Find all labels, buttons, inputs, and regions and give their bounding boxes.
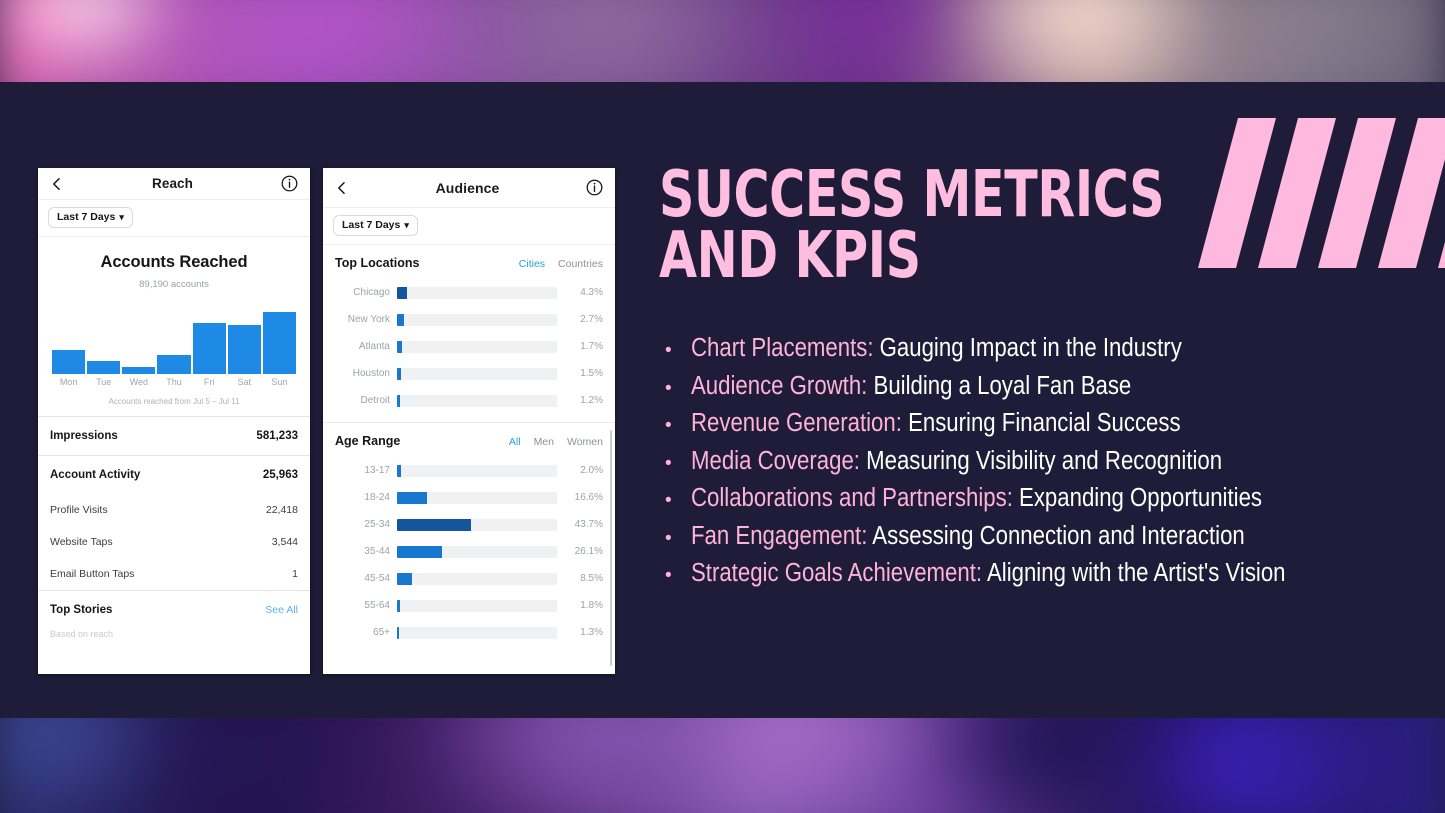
axis-label-mon: Mon bbox=[52, 377, 85, 387]
age-percent: 43.7% bbox=[557, 519, 603, 530]
top-stories-subtitle: Based on reach bbox=[38, 629, 310, 639]
audience-screenshot-card: Audience Last 7 Days ▾ Top Locations Cit… bbox=[323, 168, 615, 674]
age-range-header: Age Range All Men Women bbox=[323, 423, 615, 457]
section-title: Age Range bbox=[335, 434, 400, 448]
top-gradient-banner bbox=[0, 0, 1445, 82]
list-item: Atlanta 1.7% bbox=[323, 333, 615, 360]
bar-fill bbox=[397, 314, 404, 326]
list-item: • Fan Engagement: Assessing Connection a… bbox=[665, 521, 1405, 551]
page-title: Reach bbox=[152, 176, 193, 191]
bullet-lead: Audience Growth: bbox=[691, 372, 867, 400]
bullet-rest: Gauging Impact in the Industry bbox=[873, 334, 1181, 362]
bar-mon bbox=[52, 350, 85, 374]
list-item: 35-44 26.1% bbox=[323, 538, 615, 565]
bar-chart-bars bbox=[50, 312, 298, 374]
age-label: 45-54 bbox=[335, 573, 397, 584]
bullet-lead: Collaborations and Partnerships: bbox=[691, 484, 1013, 512]
bullet-marker-icon: • bbox=[665, 341, 691, 360]
bar-track bbox=[397, 492, 557, 504]
bar-track bbox=[397, 314, 557, 326]
chevron-down-icon: ▾ bbox=[404, 221, 409, 230]
bar-track bbox=[397, 341, 557, 353]
top-stories-header: Top Stories See All bbox=[38, 590, 310, 629]
bar-fill bbox=[397, 627, 399, 639]
top-gradient-fill bbox=[0, 0, 1445, 82]
table-row[interactable]: Impressions 581,233 bbox=[38, 416, 310, 455]
info-circle-icon[interactable] bbox=[281, 175, 298, 192]
age-label: 55-64 bbox=[335, 600, 397, 611]
bullet-text: Fan Engagement: Assessing Connection and… bbox=[691, 521, 1245, 551]
bullet-lead: Chart Placements: bbox=[691, 334, 873, 362]
bar-fill bbox=[397, 287, 407, 299]
bullet-rest: Measuring Visibility and Recognition bbox=[860, 447, 1222, 475]
list-item: • Chart Placements: Gauging Impact in th… bbox=[665, 333, 1405, 363]
reach-header: Reach bbox=[38, 168, 310, 200]
age-percent: 8.5% bbox=[557, 573, 603, 584]
bar-track bbox=[397, 287, 557, 299]
bar-fill bbox=[397, 600, 400, 612]
bullet-lead: Media Coverage: bbox=[691, 447, 860, 475]
metric-label: Website Taps bbox=[50, 536, 113, 548]
axis-label-tue: Tue bbox=[87, 377, 120, 387]
list-item: 25-34 43.7% bbox=[323, 511, 615, 538]
age-label: 35-44 bbox=[335, 546, 397, 557]
scrollbar[interactable] bbox=[610, 430, 613, 666]
location-label: New York bbox=[335, 314, 397, 325]
bar-track bbox=[397, 546, 557, 558]
bottom-gradient-banner bbox=[0, 718, 1445, 813]
slide-title-line-1: SUCCESS METRICS bbox=[659, 163, 1026, 225]
metric-value: 25,963 bbox=[263, 469, 298, 481]
axis-label-fri: Fri bbox=[193, 377, 226, 387]
list-item: • Media Coverage: Measuring Visibility a… bbox=[665, 446, 1405, 476]
age-label: 65+ bbox=[335, 627, 397, 638]
chevron-left-icon[interactable] bbox=[50, 177, 64, 191]
location-label: Detroit bbox=[335, 395, 397, 406]
metric-label: Impressions bbox=[50, 430, 118, 442]
list-item: Houston 1.5% bbox=[323, 360, 615, 387]
location-percent: 2.7% bbox=[557, 314, 603, 325]
list-item: 65+ 1.3% bbox=[323, 619, 615, 646]
top-locations-header: Top Locations Cities Countries bbox=[323, 245, 615, 279]
bullet-rest: Expanding Opportunities bbox=[1013, 484, 1262, 512]
chevron-left-icon[interactable] bbox=[335, 181, 349, 195]
chart-subtitle: 89,190 accounts bbox=[50, 279, 298, 290]
age-label: 13-17 bbox=[335, 465, 397, 476]
reach-screenshot-card: Reach Last 7 Days ▾ Accounts Reached 89,… bbox=[38, 168, 310, 674]
age-label: 25-34 bbox=[335, 519, 397, 530]
slide-title: SUCCESS METRICS AND KPIS bbox=[659, 163, 1129, 285]
metric-label: Email Button Taps bbox=[50, 568, 134, 580]
table-row[interactable]: Profile Visits 22,418 bbox=[38, 494, 310, 526]
list-item: Chicago 4.3% bbox=[323, 279, 615, 306]
bullet-marker-icon: • bbox=[665, 529, 691, 548]
accounts-reached-chart: Accounts Reached 89,190 accounts Mon Tue… bbox=[38, 237, 310, 416]
bar-chart-axis-labels: Mon Tue Wed Thu Fri Sat Sun bbox=[50, 374, 298, 387]
date-range-dropdown[interactable]: Last 7 Days ▾ bbox=[333, 215, 418, 236]
section-title: Top Locations bbox=[335, 256, 420, 270]
bullet-text: Media Coverage: Measuring Visibility and… bbox=[691, 446, 1222, 476]
list-item: 55-64 1.8% bbox=[323, 592, 615, 619]
location-percent: 1.2% bbox=[557, 395, 603, 406]
bottom-gradient-fill bbox=[0, 718, 1445, 813]
bar-fill bbox=[397, 546, 442, 558]
metric-label: Account Activity bbox=[50, 469, 140, 481]
metric-value: 581,233 bbox=[256, 430, 298, 442]
bar-tue bbox=[87, 361, 120, 374]
bar-fri bbox=[193, 323, 226, 374]
bullet-marker-icon: • bbox=[665, 379, 691, 398]
bar-track bbox=[397, 600, 557, 612]
bar-fill bbox=[397, 341, 402, 353]
bullet-marker-icon: • bbox=[665, 454, 691, 473]
bullet-rest: Building a Loyal Fan Base bbox=[867, 372, 1131, 400]
bullet-marker-icon: • bbox=[665, 491, 691, 510]
see-all-link[interactable]: See All bbox=[265, 604, 298, 616]
location-label: Chicago bbox=[335, 287, 397, 298]
location-label: Atlanta bbox=[335, 341, 397, 352]
location-percent: 4.3% bbox=[557, 287, 603, 298]
info-circle-icon[interactable] bbox=[586, 179, 603, 196]
age-percent: 2.0% bbox=[557, 465, 603, 476]
bullet-rest: Aligning with the Artist's Vision bbox=[982, 559, 1285, 587]
age-label: 18-24 bbox=[335, 492, 397, 503]
list-item: • Collaborations and Partnerships: Expan… bbox=[665, 483, 1405, 513]
bar-fill bbox=[397, 519, 471, 531]
bullet-marker-icon: • bbox=[665, 566, 691, 585]
chevron-down-icon: ▾ bbox=[119, 213, 124, 222]
kpi-bullet-list: • Chart Placements: Gauging Impact in th… bbox=[665, 333, 1405, 596]
age-range-tabs: All Men Women bbox=[509, 436, 603, 448]
axis-label-wed: Wed bbox=[122, 377, 155, 387]
stripes-svg bbox=[1146, 118, 1445, 268]
location-label: Houston bbox=[335, 368, 397, 379]
tab-countries[interactable]: Countries bbox=[558, 258, 603, 270]
bullet-text: Audience Growth: Building a Loyal Fan Ba… bbox=[691, 371, 1131, 401]
top-locations-tabs: Cities Countries bbox=[519, 258, 603, 270]
age-percent: 1.8% bbox=[557, 600, 603, 611]
location-percent: 1.7% bbox=[557, 341, 603, 352]
chart-title: Accounts Reached bbox=[50, 253, 298, 272]
bar-fill bbox=[397, 465, 401, 477]
age-percent: 16.6% bbox=[557, 492, 603, 503]
bar-wed bbox=[122, 367, 155, 374]
age-percent: 1.3% bbox=[557, 627, 603, 638]
reach-filter-bar: Last 7 Days ▾ bbox=[38, 200, 310, 237]
axis-label-sat: Sat bbox=[228, 377, 261, 387]
bar-sat bbox=[228, 325, 261, 374]
bullet-rest: Assessing Connection and Interaction bbox=[867, 522, 1244, 550]
audience-header: Audience bbox=[323, 168, 615, 208]
list-item: • Audience Growth: Building a Loyal Fan … bbox=[665, 371, 1405, 401]
section-title: Top Stories bbox=[50, 604, 112, 616]
date-range-label: Last 7 Days bbox=[57, 211, 115, 223]
bar-fill bbox=[397, 573, 412, 585]
axis-label-sun: Sun bbox=[263, 377, 296, 387]
location-percent: 1.5% bbox=[557, 368, 603, 379]
bar-track bbox=[397, 627, 557, 639]
metric-label: Profile Visits bbox=[50, 504, 108, 516]
bullet-rest: Ensuring Financial Success bbox=[902, 409, 1181, 437]
chart-footnote: Accounts reached from Jul 5 – Jul 11 bbox=[50, 397, 298, 416]
tab-women[interactable]: Women bbox=[567, 436, 603, 448]
list-item: 18-24 16.6% bbox=[323, 484, 615, 511]
bullet-marker-icon: • bbox=[665, 416, 691, 435]
bullet-text: Collaborations and Partnerships: Expandi… bbox=[691, 483, 1262, 513]
list-item: Detroit 1.2% bbox=[323, 387, 615, 414]
tab-all[interactable]: All bbox=[509, 436, 521, 448]
date-range-dropdown[interactable]: Last 7 Days ▾ bbox=[48, 207, 133, 228]
metric-value: 3,544 bbox=[272, 536, 298, 548]
slide-title-line-2: AND KPIS bbox=[659, 224, 1026, 286]
bar-fill bbox=[397, 368, 401, 380]
bar-track bbox=[397, 465, 557, 477]
bar-track bbox=[397, 573, 557, 585]
bullet-text: Chart Placements: Gauging Impact in the … bbox=[691, 333, 1182, 363]
bullet-text: Revenue Generation: Ensuring Financial S… bbox=[691, 408, 1181, 438]
bar-track bbox=[397, 368, 557, 380]
bullet-lead: Fan Engagement: bbox=[691, 522, 867, 550]
metric-value: 1 bbox=[292, 568, 298, 580]
bar-thu bbox=[157, 355, 190, 374]
age-percent: 26.1% bbox=[557, 546, 603, 557]
diagonal-stripes-decoration bbox=[1146, 118, 1445, 268]
table-row[interactable]: Website Taps 3,544 bbox=[38, 526, 310, 558]
bullet-lead: Revenue Generation: bbox=[691, 409, 902, 437]
list-item: • Strategic Goals Achievement: Aligning … bbox=[665, 558, 1405, 588]
date-range-label: Last 7 Days bbox=[342, 219, 400, 231]
list-item: New York 2.7% bbox=[323, 306, 615, 333]
list-item: 13-17 2.0% bbox=[323, 457, 615, 484]
list-item: 45-54 8.5% bbox=[323, 565, 615, 592]
table-row[interactable]: Email Button Taps 1 bbox=[38, 558, 310, 590]
bar-fill bbox=[397, 395, 400, 407]
tab-men[interactable]: Men bbox=[534, 436, 554, 448]
audience-filter-bar: Last 7 Days ▾ bbox=[323, 208, 615, 245]
bullet-text: Strategic Goals Achievement: Aligning wi… bbox=[691, 558, 1286, 588]
bar-sun bbox=[263, 312, 296, 374]
tab-cities[interactable]: Cities bbox=[519, 258, 545, 270]
page-title: Audience bbox=[436, 180, 500, 196]
bar-fill bbox=[397, 492, 427, 504]
metric-value: 22,418 bbox=[266, 504, 298, 516]
bullet-lead: Strategic Goals Achievement: bbox=[691, 559, 982, 587]
bar-track bbox=[397, 519, 557, 531]
bar-track bbox=[397, 395, 557, 407]
table-row[interactable]: Account Activity 25,963 bbox=[38, 455, 310, 494]
list-item: • Revenue Generation: Ensuring Financial… bbox=[665, 408, 1405, 438]
axis-label-thu: Thu bbox=[157, 377, 190, 387]
